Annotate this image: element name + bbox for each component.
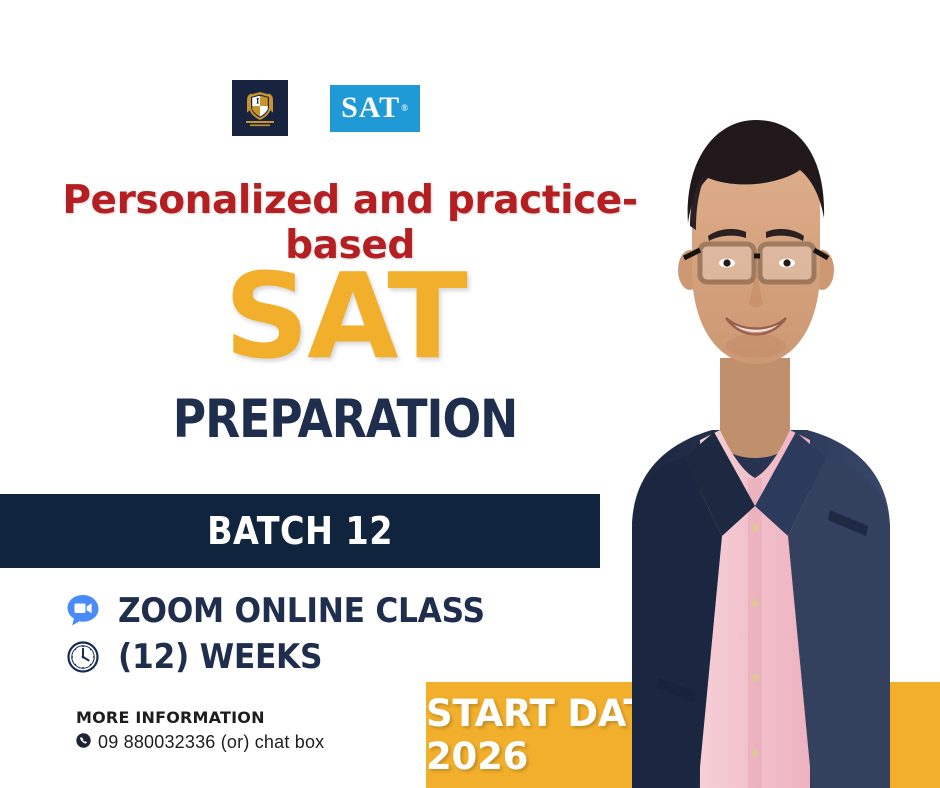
crest-shield-icon: I — [240, 87, 280, 129]
sat-logo-text: SAT — [341, 91, 400, 125]
registered-mark-icon: ® — [401, 104, 409, 113]
svg-text:I: I — [256, 97, 259, 106]
instructor-photo — [572, 58, 940, 788]
detail-row-duration: (12) WEEKS — [62, 634, 517, 680]
zoom-video-icon — [62, 590, 104, 632]
contact-title: MORE INFORMATION — [76, 708, 324, 727]
sat-brand-logo: SAT® — [330, 85, 420, 132]
page-subtitle: PREPARATION — [48, 393, 641, 446]
instructor-portrait — [572, 58, 940, 788]
batch-banner: BATCH 12 — [0, 494, 600, 568]
logo-row: I SAT® — [232, 80, 420, 136]
course-details-block: ZOOM ONLINE CLASS — [62, 588, 517, 680]
contact-phone: 09 880032336 (or) chat box — [98, 732, 324, 753]
phone-icon — [76, 733, 91, 753]
clock-icon — [62, 636, 104, 678]
contact-block: MORE INFORMATION 09 880032336 (or) chat … — [76, 708, 324, 753]
detail-row-zoom: ZOOM ONLINE CLASS — [62, 588, 517, 634]
sat-preparation-poster: I SAT® Personalized and practice-based S… — [0, 0, 940, 788]
detail-label-duration: (12) WEEKS — [118, 637, 322, 677]
batch-label: BATCH 12 — [36, 494, 564, 568]
school-crest-logo: I — [232, 80, 288, 136]
detail-label-zoom: ZOOM ONLINE CLASS — [118, 591, 485, 631]
contact-phone-row[interactable]: 09 880032336 (or) chat box — [76, 732, 324, 753]
